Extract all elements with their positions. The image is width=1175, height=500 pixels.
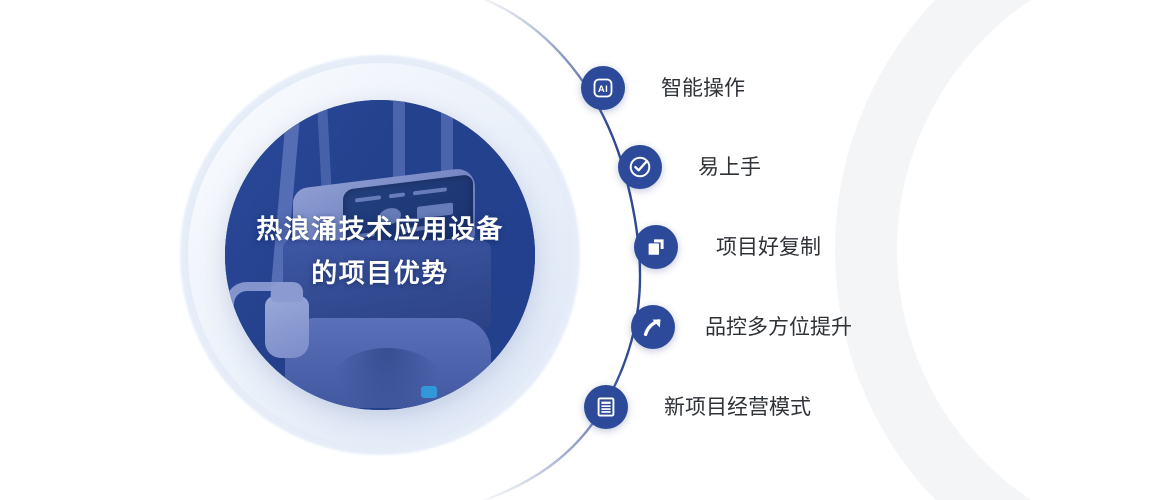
feature-badge-5[interactable]	[584, 385, 628, 429]
feature-item-4[interactable]: 品控多方位提升	[631, 305, 852, 349]
feature-badge-4[interactable]	[631, 305, 675, 349]
hero-image-circle: 热浪涌技术应用设备 的项目优势	[225, 100, 535, 410]
feature-badge-2[interactable]	[618, 145, 662, 189]
feature-label-1: 智能操作	[661, 78, 745, 99]
check-circle-icon	[627, 154, 653, 180]
feature-item-5[interactable]: 新项目经营模式	[584, 385, 811, 429]
document-list-icon	[594, 395, 618, 419]
feature-label-4: 品控多方位提升	[705, 317, 852, 338]
feature-badge-3[interactable]	[634, 225, 678, 269]
hero-title: 热浪涌技术应用设备 的项目优势	[225, 100, 535, 410]
infographic-canvas: 热浪涌技术应用设备 的项目优势 AI 智能操作 易	[0, 0, 1175, 500]
copy-icon	[644, 235, 668, 259]
feature-item-1[interactable]: AI 智能操作	[581, 66, 745, 110]
svg-text:AI: AI	[598, 84, 608, 95]
hero-title-line-2: 的项目优势	[311, 255, 449, 293]
feature-label-5: 新项目经营模式	[664, 397, 811, 418]
trend-arrow-icon	[640, 314, 666, 340]
feature-item-3[interactable]: 项目好复制	[634, 225, 821, 269]
hero-circle-group: 热浪涌技术应用设备 的项目优势	[180, 55, 580, 455]
feature-label-2: 易上手	[698, 157, 761, 178]
feature-label-3: 项目好复制	[716, 237, 821, 258]
feature-item-2[interactable]: 易上手	[618, 145, 761, 189]
decorative-ring	[835, 0, 1175, 500]
feature-badge-1[interactable]: AI	[581, 66, 625, 110]
hero-title-line-1: 热浪涌技术应用设备	[256, 211, 504, 249]
ai-icon: AI	[591, 76, 615, 100]
